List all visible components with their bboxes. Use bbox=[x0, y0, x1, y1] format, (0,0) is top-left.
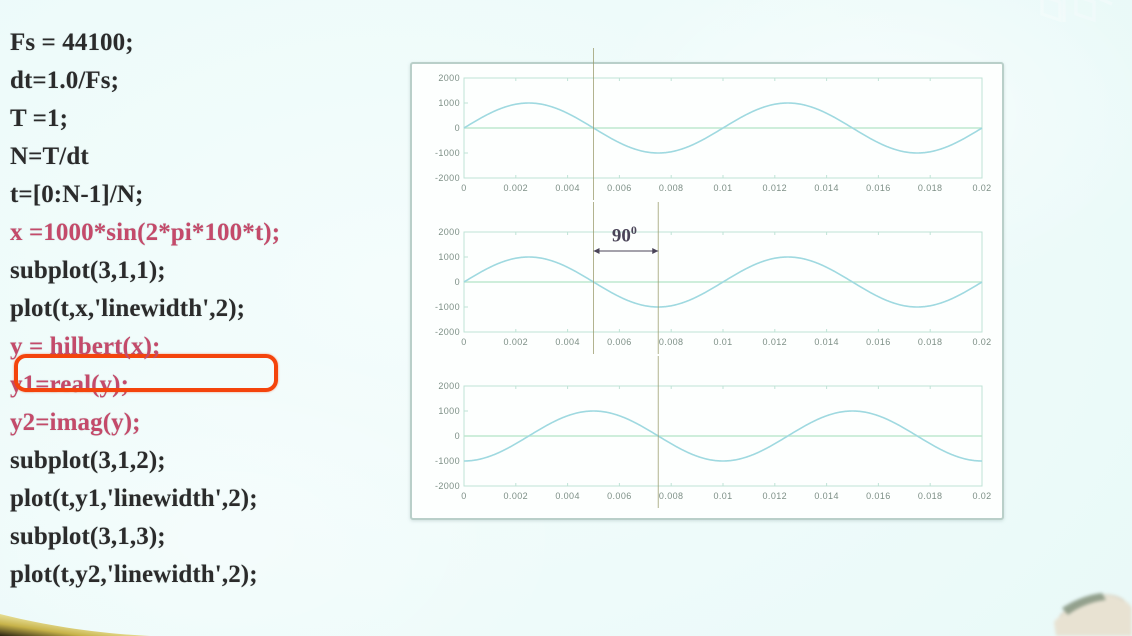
code-line-3: T =1; bbox=[10, 100, 400, 138]
y-tick-label: -1000 bbox=[435, 302, 460, 312]
subplot-3: 200010000-1000-200000.0020.0040.0060.008… bbox=[412, 376, 1006, 524]
code-line-6: x =1000*sin(2*pi*100*t); bbox=[10, 214, 400, 252]
y-tick-label: -1000 bbox=[435, 148, 460, 158]
code-line-11: y2=imag(y); bbox=[10, 404, 400, 442]
subplot-1-x-plot bbox=[464, 78, 982, 178]
x-tick-label: 0.006 bbox=[607, 491, 632, 501]
x-tick-label: 0.018 bbox=[918, 337, 943, 347]
x-tick-label: 0.004 bbox=[555, 491, 580, 501]
y-tick-label: 1000 bbox=[438, 98, 460, 108]
subplot-2-axes: 900200010000-1000-200000.0020.0040.0060.… bbox=[464, 232, 982, 332]
x-tick-label: 0.02 bbox=[972, 337, 991, 347]
x-tick-label: 0 bbox=[461, 337, 466, 347]
y-tick-label: 2000 bbox=[438, 381, 460, 391]
code-line-9-hilbert: y = hilbert(x); bbox=[10, 328, 400, 366]
x-tick-label: 0.002 bbox=[504, 183, 529, 193]
matlab-figure-window: 200010000-1000-200000.0020.0040.0060.008… bbox=[410, 62, 1004, 520]
code-line-7: subplot(3,1,1); bbox=[10, 252, 400, 290]
code-line-4: N=T/dt bbox=[10, 138, 400, 176]
x-tick-label: 0.014 bbox=[814, 183, 839, 193]
code-line-1: Fs = 44100; bbox=[10, 24, 400, 62]
subplot-3-axes: 200010000-1000-200000.0020.0040.0060.008… bbox=[464, 386, 982, 486]
x-tick-label: 0.014 bbox=[814, 491, 839, 501]
subplot-1-axes: 200010000-1000-200000.0020.0040.0060.008… bbox=[464, 78, 982, 178]
y-tick-label: 2000 bbox=[438, 227, 460, 237]
subplot-3-y2-imag-plot bbox=[464, 386, 982, 486]
y-tick-label: -2000 bbox=[435, 327, 460, 337]
x-tick-label: 0.02 bbox=[972, 183, 991, 193]
x-tick-label: 0.018 bbox=[918, 183, 943, 193]
x-tick-label: 0.02 bbox=[972, 491, 991, 501]
x-tick-label: 0.006 bbox=[607, 337, 632, 347]
presenter-hand bbox=[1036, 578, 1132, 636]
x-tick-label: 0 bbox=[461, 183, 466, 193]
x-tick-label: 0.018 bbox=[918, 491, 943, 501]
code-line-12: subplot(3,1,2); bbox=[10, 442, 400, 480]
x-tick-label: 0.006 bbox=[607, 183, 632, 193]
y-tick-label: 0 bbox=[455, 277, 460, 287]
x-tick-label: 0.002 bbox=[504, 337, 529, 347]
x-tick-label: 0.004 bbox=[555, 183, 580, 193]
x-tick-label: 0.01 bbox=[713, 491, 732, 501]
book-logo-watermark bbox=[1034, 0, 1118, 34]
code-line-2: dt=1.0/Fs; bbox=[10, 62, 400, 100]
y-tick-label: 0 bbox=[455, 431, 460, 441]
x-tick-label: 0.012 bbox=[763, 491, 788, 501]
x-tick-label: 0 bbox=[461, 491, 466, 501]
x-tick-label: 0.014 bbox=[814, 337, 839, 347]
x-tick-label: 0.016 bbox=[866, 337, 891, 347]
x-tick-label: 0.01 bbox=[713, 337, 732, 347]
code-line-14: subplot(3,1,3); bbox=[10, 518, 400, 556]
subplot-1: 200010000-1000-200000.0020.0040.0060.008… bbox=[412, 68, 1006, 216]
x-tick-label: 0.012 bbox=[763, 337, 788, 347]
phase-annotation-label: 900 bbox=[612, 223, 637, 247]
subplot-2: 900200010000-1000-200000.0020.0040.0060.… bbox=[412, 222, 1006, 370]
code-line-15: plot(t,y2,'linewidth',2); bbox=[10, 556, 400, 594]
desk-edge-wedge bbox=[0, 602, 210, 636]
code-line-8: plot(t,x,'linewidth',2); bbox=[10, 290, 400, 328]
y-tick-label: -2000 bbox=[435, 481, 460, 491]
y-tick-label: 1000 bbox=[438, 406, 460, 416]
x-tick-label: 0.002 bbox=[504, 491, 529, 501]
x-tick-label: 0.01 bbox=[713, 183, 732, 193]
x-tick-label: 0.008 bbox=[659, 337, 684, 347]
code-line-13: plot(t,y1,'linewidth',2); bbox=[10, 480, 400, 518]
y-tick-label: 1000 bbox=[438, 252, 460, 262]
x-tick-label: 0.008 bbox=[659, 183, 684, 193]
x-tick-label: 0.004 bbox=[555, 337, 580, 347]
matlab-code-listing: Fs = 44100; dt=1.0/Fs; T =1; N=T/dt t=[0… bbox=[10, 24, 400, 594]
x-tick-label: 0.016 bbox=[866, 183, 891, 193]
code-line-5: t=[0:N-1]/N; bbox=[10, 176, 400, 214]
y-tick-label: 2000 bbox=[438, 73, 460, 83]
y-tick-label: -1000 bbox=[435, 456, 460, 466]
x-tick-label: 0.012 bbox=[763, 183, 788, 193]
x-tick-label: 0.016 bbox=[866, 491, 891, 501]
y-tick-label: -2000 bbox=[435, 173, 460, 183]
x-tick-label: 0.008 bbox=[659, 491, 684, 501]
subplot-2-y1-real-plot bbox=[464, 232, 982, 332]
y-tick-label: 0 bbox=[455, 123, 460, 133]
phase-annotation-arrow bbox=[594, 248, 659, 254]
